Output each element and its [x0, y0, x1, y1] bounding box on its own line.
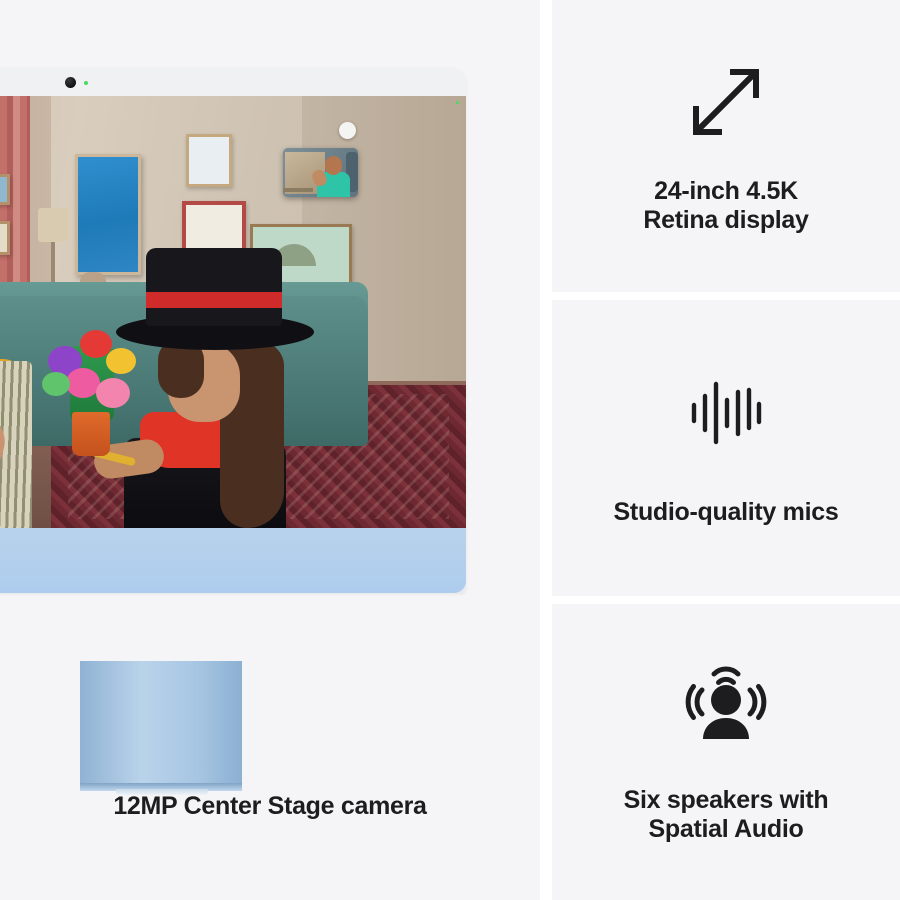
- person-clapping: [0, 271, 60, 528]
- diagonal-resize-arrow-icon: [687, 57, 765, 147]
- screen-status-indicator-icon: [456, 101, 459, 104]
- imac-product-image: [0, 68, 466, 593]
- feature-card-mics-label: Studio-quality mics: [614, 498, 839, 528]
- picture-in-picture-video[interactable]: [283, 148, 358, 197]
- imac-display-body: [0, 68, 466, 593]
- video-call-scene: [0, 96, 466, 528]
- speakers-label-line-2: Spatial Audio: [624, 815, 829, 845]
- speakers-label-line-1: Six speakers with: [624, 786, 829, 816]
- child-magician: [116, 246, 346, 528]
- display-label-line-2: Retina display: [643, 206, 808, 236]
- imac-showcase-panel: 12MP Center Stage camera: [0, 0, 540, 900]
- feature-card-speakers[interactable]: Six speakers with Spatial Audio: [552, 604, 900, 900]
- imac-screen: [0, 96, 466, 528]
- spatial-audio-person-icon: [685, 660, 767, 750]
- feature-cards-column: 24-inch 4.5K Retina display: [540, 0, 900, 900]
- camera-feature-caption: 12MP Center Stage camera: [0, 792, 540, 821]
- audio-waveform-icon: [689, 368, 763, 458]
- video-call-control-button[interactable]: [339, 122, 356, 139]
- imac-chin: [0, 528, 466, 593]
- camera-lens-icon: [65, 77, 76, 88]
- flower-pot: [72, 412, 110, 456]
- display-label-line-1: 24-inch 4.5K: [643, 177, 808, 207]
- feature-card-mics[interactable]: Studio-quality mics: [552, 300, 900, 596]
- feature-card-display[interactable]: 24-inch 4.5K Retina display: [552, 0, 900, 292]
- feature-card-display-label: 24-inch 4.5K Retina display: [643, 177, 808, 236]
- camera-active-indicator-icon: [84, 81, 88, 85]
- mics-label-line-1: Studio-quality mics: [614, 498, 839, 528]
- imac-stand-neck: [80, 661, 242, 791]
- feature-card-speakers-label: Six speakers with Spatial Audio: [624, 786, 829, 845]
- product-feature-grid: 12MP Center Stage camera 24-inch 4.5K Re…: [0, 0, 900, 900]
